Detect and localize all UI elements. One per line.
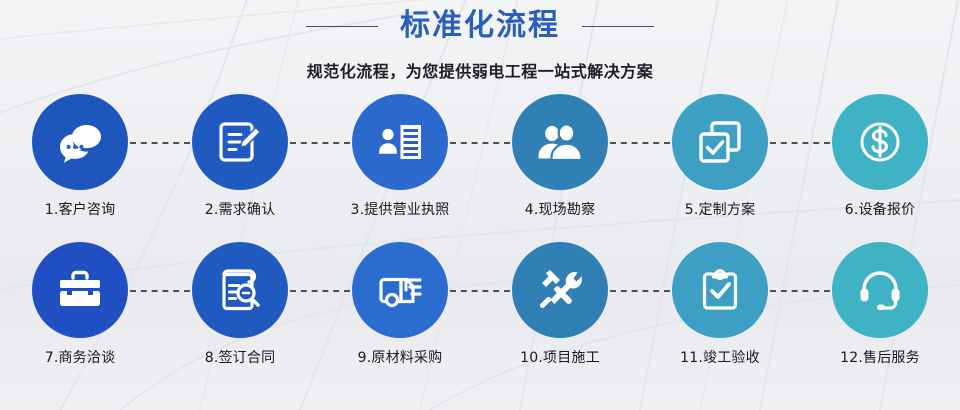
process-step-9[interactable]: 9.原材料采购 xyxy=(320,240,480,388)
step-label-3: 3.提供营业执照 xyxy=(351,199,450,219)
id-card-icon xyxy=(376,118,424,166)
header: 标准化流程 规范化流程，为您提供弱电工程一站式解决方案 xyxy=(0,0,960,88)
clipboard-check-icon xyxy=(696,266,744,314)
connector-11-to-12 xyxy=(770,290,830,292)
steps-row-2: 7.商务洽谈8.签订合同9.原材料采购10.项目施工11.竣工验收12.售后服务 xyxy=(0,240,960,388)
steps-grid: 1.客户咨询2.需求确认3.提供营业执照4.现场勘察5.定制方案6.设备报价 7… xyxy=(0,92,960,388)
document-pencil-icon xyxy=(216,118,264,166)
step-label-11: 11.竣工验收 xyxy=(680,347,760,367)
step-label-5: 5.定制方案 xyxy=(685,199,756,219)
step-label-4: 4.现场勘察 xyxy=(525,199,596,219)
connector-5-to-6 xyxy=(770,142,830,144)
step-circle-5[interactable] xyxy=(672,94,768,190)
process-step-7[interactable]: 7.商务洽谈 xyxy=(0,240,160,388)
step-label-1: 1.客户咨询 xyxy=(45,199,116,219)
process-diagram: 标准化流程 规范化流程，为您提供弱电工程一站式解决方案 1.客户咨询2.需求确认… xyxy=(0,0,960,410)
process-step-6[interactable]: 6.设备报价 xyxy=(800,92,960,240)
dollar-coin-icon xyxy=(856,118,904,166)
process-step-8[interactable]: 8.签订合同 xyxy=(160,240,320,388)
step-label-12: 12.售后服务 xyxy=(840,347,920,367)
step-circle-12[interactable] xyxy=(832,242,928,338)
two-people-icon xyxy=(536,118,584,166)
step-label-10: 10.项目施工 xyxy=(520,347,600,367)
process-step-3[interactable]: 3.提供营业执照 xyxy=(320,92,480,240)
step-label-8: 8.签订合同 xyxy=(205,347,276,367)
process-step-1[interactable]: 1.客户咨询 xyxy=(0,92,160,240)
step-circle-9[interactable] xyxy=(352,242,448,338)
title-row: 标准化流程 xyxy=(0,0,960,52)
steps-row-1: 1.客户咨询2.需求确认3.提供营业执照4.现场勘察5.定制方案6.设备报价 xyxy=(0,92,960,240)
step-circle-11[interactable] xyxy=(672,242,768,338)
process-step-10[interactable]: 10.项目施工 xyxy=(480,240,640,388)
layered-checkbox-icon xyxy=(696,118,744,166)
chat-bubbles-icon xyxy=(56,118,104,166)
step-circle-6[interactable] xyxy=(832,94,928,190)
connector-8-to-9 xyxy=(290,290,350,292)
delivery-truck-icon xyxy=(376,266,424,314)
process-step-4[interactable]: 4.现场勘察 xyxy=(480,92,640,240)
step-circle-3[interactable] xyxy=(352,94,448,190)
connector-7-to-8 xyxy=(130,290,190,292)
connector-9-to-10 xyxy=(450,290,510,292)
title-rule-right xyxy=(582,26,654,27)
step-label-2: 2.需求确认 xyxy=(205,199,276,219)
hammer-wrench-icon xyxy=(536,266,584,314)
step-label-7: 7.商务洽谈 xyxy=(45,347,116,367)
step-circle-8[interactable] xyxy=(192,242,288,338)
step-circle-2[interactable] xyxy=(192,94,288,190)
process-step-11[interactable]: 11.竣工验收 xyxy=(640,240,800,388)
process-step-12[interactable]: 12.售后服务 xyxy=(800,240,960,388)
briefcase-icon xyxy=(56,266,104,314)
process-step-5[interactable]: 5.定制方案 xyxy=(640,92,800,240)
step-circle-1[interactable] xyxy=(32,94,128,190)
page-title: 标准化流程 xyxy=(400,11,560,41)
contract-search-icon xyxy=(216,266,264,314)
connector-1-to-2 xyxy=(130,142,190,144)
headset-icon xyxy=(856,266,904,314)
step-label-9: 9.原材料采购 xyxy=(358,347,443,367)
step-circle-7[interactable] xyxy=(32,242,128,338)
connector-4-to-5 xyxy=(610,142,670,144)
process-step-2[interactable]: 2.需求确认 xyxy=(160,92,320,240)
connector-2-to-3 xyxy=(290,142,350,144)
step-circle-4[interactable] xyxy=(512,94,608,190)
connector-3-to-4 xyxy=(450,142,510,144)
connector-10-to-11 xyxy=(610,290,670,292)
page-subtitle: 规范化流程，为您提供弱电工程一站式解决方案 xyxy=(0,58,960,82)
step-circle-10[interactable] xyxy=(512,242,608,338)
step-label-6: 6.设备报价 xyxy=(845,199,916,219)
title-rule-left xyxy=(306,26,378,27)
